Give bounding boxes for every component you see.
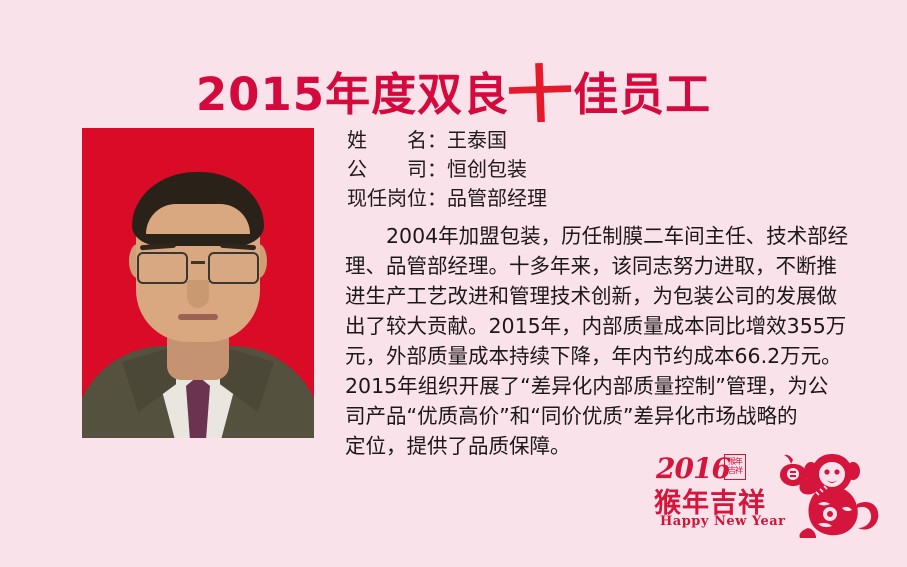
bio-line: 元，外部质量成本持续下降，年内节约成本66.2万元。 — [345, 341, 823, 371]
bio-line: 进生产工艺改进和管理技术创新，为包装公司的发展做 — [345, 281, 823, 311]
bio-line: 司产品“优质高价”和“同价优质”差异化市场战略的 — [345, 401, 823, 431]
monkey-papercut-icon — [758, 448, 890, 540]
title-suffix: 佳员工 — [573, 68, 711, 121]
bio-line: 出了较大贡献。2015年，内部质量成本同比增效355万 — [345, 311, 823, 341]
portrait-eyeglasses — [137, 252, 259, 282]
employee-portrait-photo — [82, 128, 314, 438]
page-title: 2015年度双良十佳员工 — [0, 58, 907, 120]
stamp-seal-icon: 猴年吉祥 — [724, 454, 746, 480]
title-brush-mark: 十 — [505, 63, 574, 127]
portrait-necktie — [186, 376, 210, 438]
bio-line: 理、品管部经理。十多年来，该同志努力进取，不断推 — [345, 251, 823, 281]
bio-line: 2015年组织开展了“差异化内部质量控制”管理，为公 — [345, 371, 823, 401]
title-prefix: 2015年度双良 — [196, 68, 509, 121]
bio-line: 2004年加盟包装，历任制膜二车间主任、技术部经 — [345, 221, 823, 251]
portrait-nose — [187, 280, 209, 308]
poster-canvas: 2015年度双良十佳员工 姓 名：王泰国 公 司：恒创包装 现任岗位：品管部经理… — [0, 0, 907, 567]
info-line-name: 姓 名：王泰国 — [347, 126, 827, 155]
employee-bio-paragraph: 2004年加盟包装，历任制膜二车间主任、技术部经 理、品管部经理。十多年来，该同… — [345, 221, 823, 461]
eyeglass-lens-right — [208, 252, 259, 284]
info-line-position: 现任岗位：品管部经理 — [347, 184, 827, 213]
new-year-monkey-stamp: 2016 猴年吉祥 猴年吉祥 Happy New Year — [650, 448, 890, 540]
portrait-mouth — [178, 314, 218, 320]
info-line-company: 公 司：恒创包装 — [347, 155, 827, 184]
employee-info-block: 姓 名：王泰国 公 司：恒创包装 现任岗位：品管部经理 — [347, 126, 827, 213]
eyeglass-bridge — [191, 261, 205, 264]
eyeglass-lens-left — [137, 252, 188, 284]
